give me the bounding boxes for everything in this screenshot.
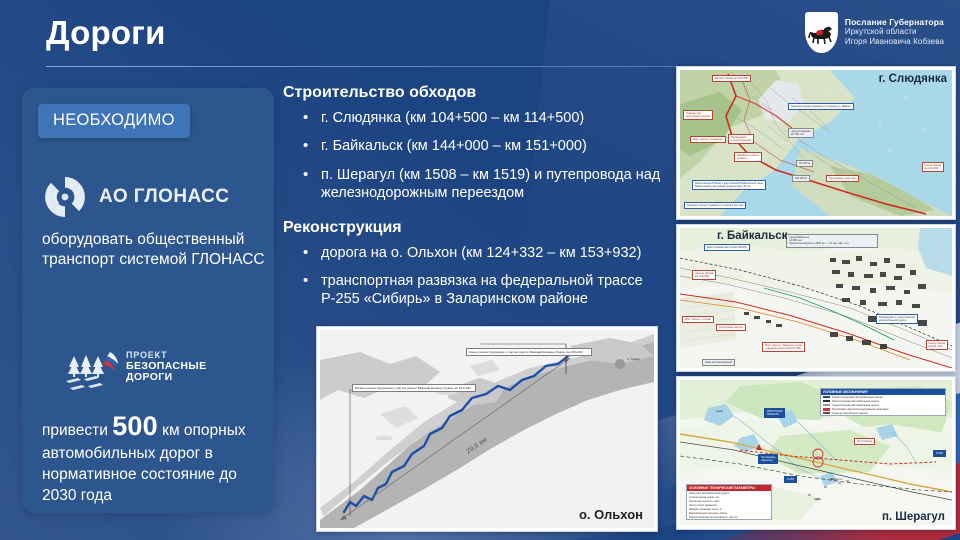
list-item: дорога на о. Ольхон (км 124+332 – км 153…	[283, 244, 673, 262]
governor-address-logo: Послание Губернатора Иркутской области И…	[805, 10, 944, 54]
goal-number: 500	[112, 411, 158, 441]
sidebar-panel: НЕОБХОДИМО АО ГЛОНАСС оборудовать общест…	[22, 88, 274, 513]
map-olkhon-canvas: 29,6 км Начало реконструируемого участка…	[320, 330, 654, 528]
goal-text: привести 500 км опорных автомобильных до…	[42, 408, 270, 506]
list-item: г. Слюдянка (км 104+500 – км 114+500)	[283, 109, 673, 127]
annotation-end: Конец реконструируемого участка дороги Б…	[466, 348, 592, 356]
main-content-column: Строительство обходов г. Слюдянка (км 10…	[283, 84, 673, 319]
map-caption: п. Шерагул	[882, 511, 945, 523]
place-label: п. Хужир	[626, 356, 643, 362]
requirement-text: оборудовать общественный транспорт систе…	[42, 230, 266, 271]
list-item: транспортная развязка на федеральной тра…	[283, 272, 673, 309]
map-baikalsk-canvas: город Байкальск12 300 чел.Проектная мощн…	[680, 228, 952, 368]
goal-prefix: привести	[42, 422, 108, 439]
map-baikalsk[interactable]: город Байкальск12 300 чел.Проектная мощн…	[676, 224, 956, 372]
glonass-block: АО ГЛОНАСС	[44, 176, 229, 218]
place-label: Шерагул	[828, 476, 844, 482]
section-heading-reconstruction: Реконструкция	[283, 219, 673, 237]
place-label: Хуба	[812, 496, 823, 502]
page-title: Дороги	[46, 14, 166, 52]
list-item: п. Шерагул (км 1508 – км 1519) и путепро…	[283, 166, 673, 203]
map-slyudyanka-canvas: Начало обхода км 104+500 Тоннель подКулт…	[680, 70, 952, 216]
map-slyudyanka[interactable]: Начало обхода км 104+500 Тоннель подКулт…	[676, 66, 956, 220]
map-sheragul[interactable]: УСЛОВНЫЕ ОБОЗНАЧЕНИЯ Реконструируемая ав…	[676, 376, 956, 530]
logo-line-3: Игоря Ивановича Кобзева	[845, 37, 944, 47]
legend-item: Границы населённых пунктов	[832, 412, 868, 415]
slide-root: Дороги Послание Губернатора Иркутской об…	[0, 0, 960, 540]
logo-line-1: Послание Губернатора	[845, 17, 944, 28]
safe-roads-project-logo: ПРОЕКТ БЕЗОПАСНЫЕ ДОРОГИ	[64, 350, 234, 398]
trees-road-icon	[64, 350, 122, 394]
logo-line-2: Иркутской области	[845, 27, 944, 37]
construction-list: г. Слюдянка (км 104+500 – км 114+500) г.…	[283, 109, 673, 203]
safe-roads-line-3: ДОРОГИ	[126, 372, 206, 383]
map-caption: г. Слюдянка	[879, 73, 947, 85]
goal-unit: км	[162, 422, 179, 439]
annotation-start: Начало реконструируемого участка дороги …	[352, 384, 476, 392]
map-olkhon[interactable]: 29,6 км Начало реконструируемого участка…	[316, 326, 658, 532]
status-badge: НЕОБХОДИМО	[38, 104, 190, 138]
section-heading-construction: Строительство обходов	[283, 84, 673, 102]
map-caption: о. Ольхон	[579, 507, 643, 522]
irkutsk-babr-coat-of-arms-icon	[805, 12, 838, 53]
legend-item: Путепровод над железнодорожным переездом	[832, 408, 888, 411]
map-sheragul-canvas: УСЛОВНЫЕ ОБОЗНАЧЕНИЯ Реконструируемая ав…	[680, 380, 952, 526]
legend-item: Реконструируемая автомобильная дорога	[832, 396, 883, 399]
legend-item: Существующая автомобильная дорога	[832, 404, 879, 407]
legend-item: Проектируемая автомобильная дорога	[832, 400, 879, 403]
glonass-satellite-icon	[44, 176, 86, 218]
reconstruction-list: дорога на о. Ольхон (км 124+332 – км 153…	[283, 244, 673, 309]
place-label: Азей	[714, 408, 725, 414]
map-caption: г. Байкальск	[717, 230, 787, 242]
map-parameters-table: ОСНОВНЫЕ ТЕХНИЧЕСКИЕ ПАРАМЕТРЫ Категория…	[686, 484, 772, 520]
glonass-label: АО ГЛОНАСС	[99, 186, 229, 208]
map-legend: УСЛОВНЫЕ ОБОЗНАЧЕНИЯ Реконструируемая ав…	[820, 388, 946, 416]
list-item: г. Байкальск (км 144+000 – км 151+000)	[283, 137, 673, 155]
